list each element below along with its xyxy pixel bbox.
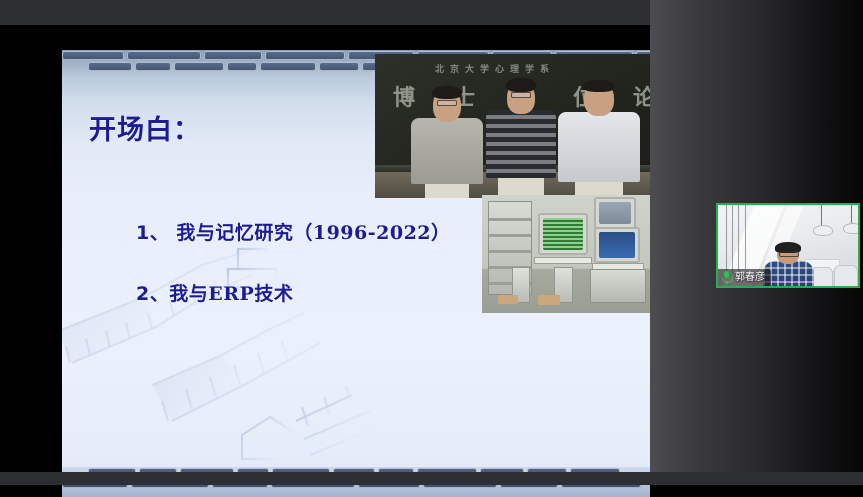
participant-glasses: [779, 251, 799, 257]
office-chair: [834, 265, 858, 288]
window-bottom-bar: [0, 472, 863, 485]
group-photo: 北京大学心理学系 博士学位论文答辩: [375, 54, 650, 198]
cardboard-box-1: [538, 295, 560, 305]
pendant-lamp-cord: [851, 205, 852, 224]
person-right: [553, 82, 645, 198]
bullet-marker: 2、: [136, 283, 169, 305]
crt-monitor-green: [538, 213, 588, 255]
keyboard-1: [534, 257, 592, 264]
window-blind-line: [745, 205, 746, 269]
person-left: [405, 88, 489, 198]
participant-nameplate: 郭春彦: [718, 269, 771, 286]
window-blind-line: [732, 205, 733, 273]
crt-monitor-blue: [594, 227, 640, 263]
presentation-slide[interactable]: 开场白： 1、 我与记忆研究（1996-2022） 2、我与ERP技术 北京大学…: [62, 50, 650, 497]
crt-monitor-top: [594, 197, 636, 229]
equipment-rack-right: [590, 269, 646, 303]
bullet-text: 我与: [169, 283, 208, 305]
pendant-lamp: [843, 223, 860, 234]
blackboard-text-line1: 北京大学心理学系: [435, 62, 555, 75]
meeting-stage: 开场白： 1、 我与记忆研究（1996-2022） 2、我与ERP技术 北京大学…: [0, 0, 863, 485]
bullet-year-range: 1996-2022: [313, 222, 431, 244]
pendant-lamp-cord: [821, 205, 822, 226]
participant-name: 郭春彦: [735, 273, 765, 283]
bullet-text: 我与记忆研究（: [169, 222, 313, 244]
slide-heading: 开场白：: [89, 108, 201, 147]
bullet-marker: 1、: [136, 222, 169, 244]
window-blind-line: [726, 205, 727, 271]
bullet-text-tail: 技术: [254, 283, 293, 305]
participant-video-tile[interactable]: 郭春彦: [716, 203, 860, 288]
microphone-icon[interactable]: [721, 271, 732, 284]
person-center: [479, 78, 563, 198]
bullet-text-tail: ）: [431, 222, 451, 244]
erp-lab-photo: [482, 195, 650, 313]
cardboard-box-2: [498, 295, 518, 304]
bullet-acronym: ERP: [208, 283, 254, 305]
shared-screen-canvas[interactable]: 开场白： 1、 我与记忆研究（1996-2022） 2、我与ERP技术 北京大学…: [0, 25, 650, 472]
pendant-lamp: [813, 225, 833, 236]
window-blind-line: [738, 205, 739, 275]
